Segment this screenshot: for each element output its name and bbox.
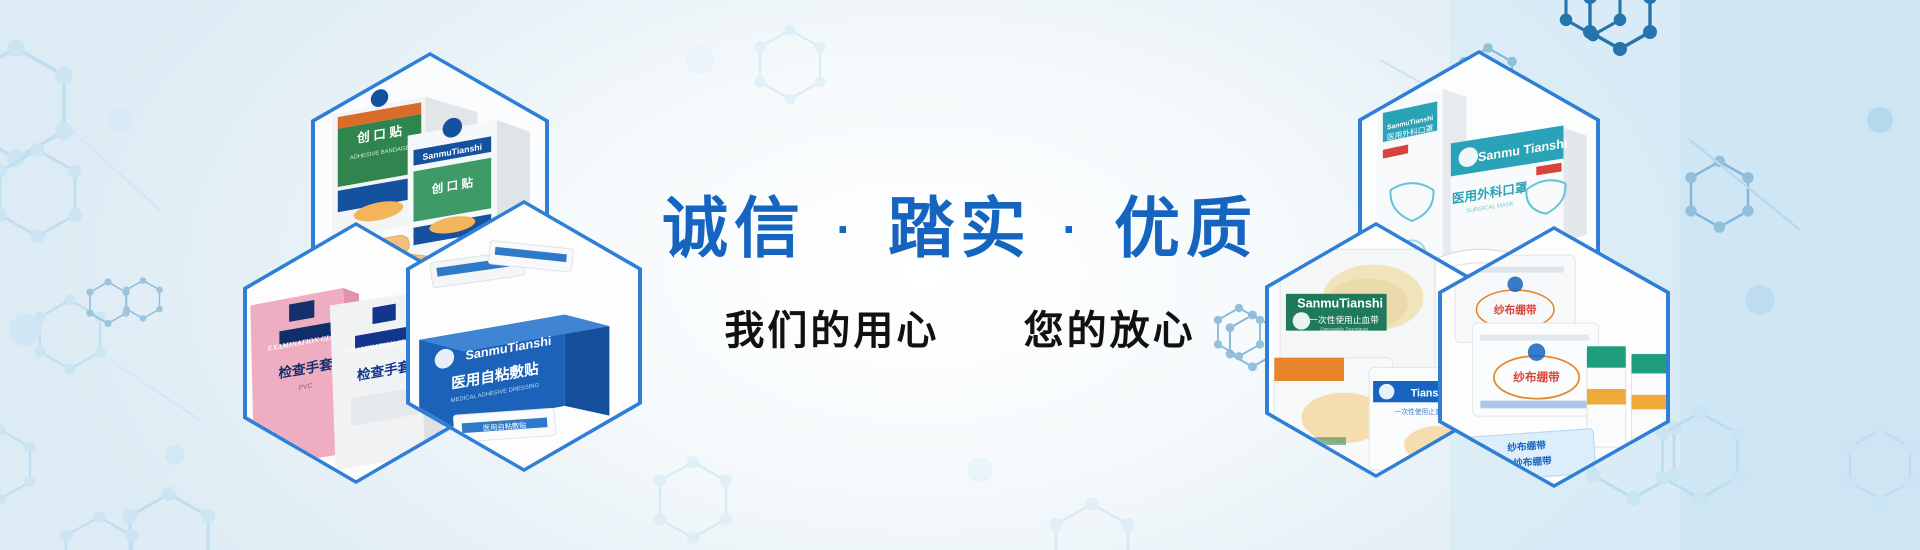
svg-text:纱布绷带: 纱布绷带 — [1513, 370, 1560, 384]
product-hexagon-group: 创 口 贴 ADHESIVE BANDAGE — [0, 0, 1920, 550]
promo-banner: 创 口 贴 ADHESIVE BANDAGE — [0, 0, 1920, 550]
svg-text:纱布绷带: 纱布绷带 — [1494, 303, 1537, 316]
svg-text:一次性使用止血带: 一次性使用止血带 — [1309, 314, 1379, 325]
svg-text:SanmuTianshi: SanmuTianshi — [1297, 296, 1383, 310]
svg-text:Disposable Tourniquet: Disposable Tourniquet — [1320, 327, 1368, 333]
